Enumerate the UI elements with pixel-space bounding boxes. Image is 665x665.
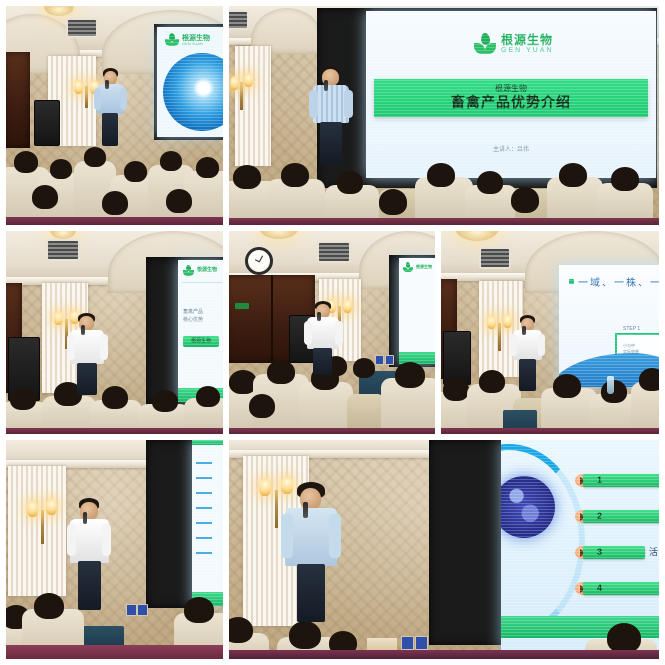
air-vent — [66, 18, 98, 38]
microphone-icon — [83, 512, 87, 524]
presenter — [68, 498, 112, 610]
carpet — [229, 428, 435, 434]
slide-top-band — [192, 440, 223, 445]
exit-sign — [235, 303, 249, 309]
blue-circle-graphic — [163, 53, 223, 131]
carpet — [229, 218, 659, 225]
led-screen: 根源生物 GEN YUAN — [157, 27, 223, 137]
wall-clock — [245, 247, 273, 275]
slide-byline: 主讲人：吕伟 — [366, 144, 656, 153]
leaf-drop-logo-icon — [474, 33, 496, 55]
slide-headline: 一域、一株、一 — [578, 274, 659, 289]
room-scene: 根源生物 GEN YUAN — [6, 6, 223, 225]
room-scene: 一域、一株、一 STEP 1 小与中 实际效果 — [441, 231, 659, 434]
presenter — [305, 301, 343, 375]
room-scene: 根源生物 — [229, 231, 435, 434]
slide-subtitle: 根源生物 — [495, 85, 527, 94]
logo-text-en: GEN YUAN — [182, 42, 210, 46]
bar-label: 活 — [649, 546, 658, 559]
blue-ring-graphic — [501, 444, 585, 638]
slide-list-rows — [196, 462, 212, 554]
room-scene — [6, 440, 223, 659]
slide-logo: 根源生物 GEN YUAN — [165, 33, 210, 47]
photo-bottom-right[interactable]: 1 2 3 活 4 — [229, 440, 659, 659]
photo-bottom-left[interactable] — [6, 440, 223, 659]
carpet — [229, 650, 659, 659]
slide-line-2: 核心优势 — [183, 316, 203, 323]
led-screen: 根源生物 GEN YUAN 根源生物 畜禽产品优势介绍 主讲人：吕伟 — [366, 11, 656, 178]
logo-text-cn: 根源生物 — [501, 34, 553, 46]
audience — [6, 137, 223, 225]
numbered-bar: 3 — [583, 546, 645, 559]
photo-top-left[interactable]: 根源生物 GEN YUAN — [6, 6, 223, 225]
carpet — [6, 428, 223, 434]
photo-mid-center[interactable]: 根源生物 — [229, 231, 435, 434]
slide-line-1: 畜禽产品 — [183, 308, 203, 315]
microphone-icon — [317, 312, 321, 321]
logo-text-en: GEN YUAN — [501, 47, 553, 54]
leaf-drop-logo-icon — [403, 262, 413, 272]
bar-number: 2 — [597, 512, 602, 521]
presenter — [94, 68, 128, 146]
carpet — [6, 217, 223, 225]
photo-mid-right[interactable]: 一域、一株、一 STEP 1 小与中 实际效果 — [441, 231, 659, 434]
slide-button: 根源生物 — [183, 336, 219, 347]
presenter — [283, 482, 341, 622]
microphone-icon — [522, 326, 526, 335]
leaf-drop-logo-icon — [165, 33, 179, 47]
air-vent — [479, 247, 511, 269]
air-vent — [229, 10, 249, 30]
led-screen: 根源生物 — [399, 258, 435, 364]
bar-number: 1 — [597, 476, 602, 485]
room-scene: 根源生物 GEN YUAN 根源生物 畜禽产品优势介绍 主讲人：吕伟 — [229, 6, 659, 225]
bar-number: 4 — [597, 584, 602, 593]
numbered-bar: 1 — [583, 474, 659, 487]
audience — [229, 155, 659, 225]
audience — [441, 366, 659, 434]
presenter — [511, 315, 545, 391]
water-bottle — [607, 376, 614, 394]
photo-mid-left[interactable]: 根源生物 畜禽产品 核心优势 根源生物 — [6, 231, 223, 434]
led-screen-frame — [146, 440, 196, 608]
microphone-icon — [324, 80, 328, 91]
room-scene: 1 2 3 活 4 — [229, 440, 659, 659]
leaf-drop-logo-icon — [183, 265, 194, 276]
led-screen: 根源生物 畜禽产品 核心优势 根源生物 — [178, 260, 223, 402]
photo-top-right[interactable]: 根源生物 GEN YUAN 根源生物 畜禽产品优势介绍 主讲人：吕伟 — [229, 6, 659, 225]
led-screen — [192, 440, 223, 606]
presenter — [311, 66, 353, 164]
bar-number: 3 — [597, 548, 602, 557]
photo-collage: 根源生物 GEN YUAN — [0, 0, 665, 665]
slide-title-band: 根源生物 畜禽产品优势介绍 — [374, 79, 648, 117]
logo-text-cn: 根源生物 — [416, 265, 432, 269]
slide-logo: 根源生物 — [403, 262, 432, 272]
slide-title: 畜禽产品优势介绍 — [451, 94, 571, 111]
slide-logo: 根源生物 — [183, 265, 217, 276]
logo-text-cn: 根源生物 — [197, 268, 217, 273]
microphone-icon — [81, 325, 85, 335]
wall-sconce — [229, 72, 255, 112]
air-vent — [46, 239, 80, 261]
slide-bullet-icon — [569, 279, 574, 284]
audience — [6, 382, 223, 434]
presenter-shirt — [70, 330, 104, 364]
wall-sconce — [26, 498, 60, 546]
microphone-icon — [303, 502, 308, 518]
microphone-icon — [105, 80, 109, 89]
dark-door — [6, 52, 30, 148]
air-vent — [317, 241, 351, 263]
slide-step-label: STEP 1 — [621, 326, 642, 332]
numbered-bar: 2 — [583, 510, 659, 523]
numbered-bar: 4 — [583, 582, 659, 595]
carpet — [6, 645, 223, 659]
room-scene: 根源生物 畜禽产品 核心优势 根源生物 — [6, 231, 223, 434]
slide-logo: 根源生物 GEN YUAN — [474, 33, 553, 55]
carpet — [441, 428, 659, 434]
presenter — [68, 313, 108, 395]
